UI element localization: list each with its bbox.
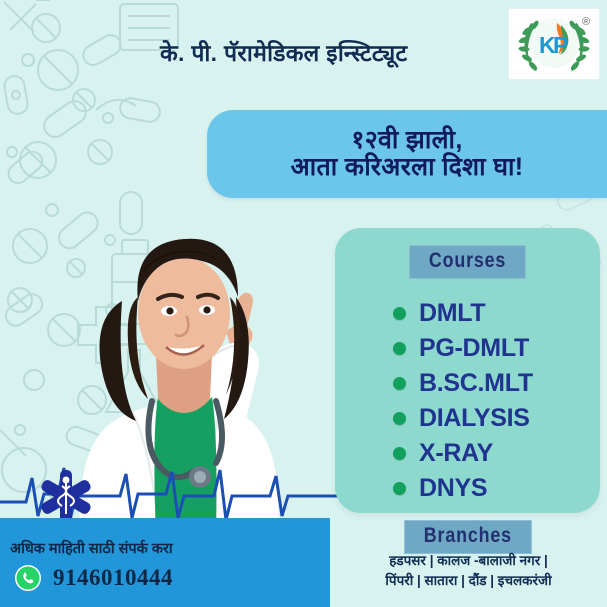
course-label: PG-DMLT xyxy=(419,334,529,363)
branches-line-2: पिंपरी | सातारा | दौंड | इचलकरंजी xyxy=(330,571,607,591)
headline-line-1: १२वी झाली, xyxy=(351,127,462,153)
branches-list: हडपसर | कालज -बालाजी नगर | पिंपरी | साता… xyxy=(330,551,607,592)
bullet-dot-icon xyxy=(393,482,406,495)
branches-badge: Branches xyxy=(404,520,531,554)
contact-prompt: अधिक माहिती साठी संपर्क करा xyxy=(10,538,173,558)
courses-badge-wrap: Courses xyxy=(335,245,600,279)
bullet-dot-icon xyxy=(393,412,406,425)
poster-header: के. पी. पॅरामेडिकल इन्स्टिट्यूट xyxy=(0,0,607,92)
headline-line-2: आता करिअरला दिशा घा! xyxy=(291,153,524,181)
list-item[interactable]: DIALYSIS xyxy=(393,401,533,436)
svg-text:®: ® xyxy=(582,16,590,28)
course-label: DNYS xyxy=(419,474,487,503)
contact-band xyxy=(0,518,330,607)
list-item[interactable]: X-RAY xyxy=(393,436,533,471)
courses-panel: Courses DMLT PG-DMLT B.SC.MLT DIALYSIS X… xyxy=(335,228,600,513)
course-label: X-RAY xyxy=(419,439,493,468)
institute-title: के. पी. पॅरामेडिकल इन्स्टिट्यूट xyxy=(160,36,505,68)
svg-text:P: P xyxy=(553,32,568,58)
list-item[interactable]: B.SC.MLT xyxy=(393,366,533,401)
bullet-dot-icon xyxy=(393,342,406,355)
list-item[interactable]: PG-DMLT xyxy=(393,331,533,366)
branches-badge-wrap: Branches xyxy=(335,520,600,554)
course-list: DMLT PG-DMLT B.SC.MLT DIALYSIS X-RAY DNY… xyxy=(393,296,533,506)
bullet-dot-icon xyxy=(393,377,406,390)
course-label: DIALYSIS xyxy=(419,404,530,433)
contact-phone-row[interactable]: 9146010444 xyxy=(14,564,173,592)
list-item[interactable]: DMLT xyxy=(393,296,533,331)
courses-badge: Courses xyxy=(409,245,525,279)
kp-logo: K P ® xyxy=(508,8,600,80)
bullet-dot-icon xyxy=(393,307,406,320)
branches-line-1: हडपसर | कालज -बालाजी नगर | xyxy=(330,551,607,571)
headline-banner: १२वी झाली, आता करिअरला दिशा घा! xyxy=(207,110,607,198)
list-item[interactable]: DNYS xyxy=(393,471,533,506)
whatsapp-icon[interactable] xyxy=(14,564,42,592)
course-label: B.SC.MLT xyxy=(419,369,533,398)
contact-phone-number[interactable]: 9146010444 xyxy=(53,565,173,591)
bullet-dot-icon xyxy=(393,447,406,460)
poster-canvas: के. पी. पॅरामेडिकल इन्स्टिट्यूट xyxy=(0,0,607,607)
course-label: DMLT xyxy=(419,299,485,328)
